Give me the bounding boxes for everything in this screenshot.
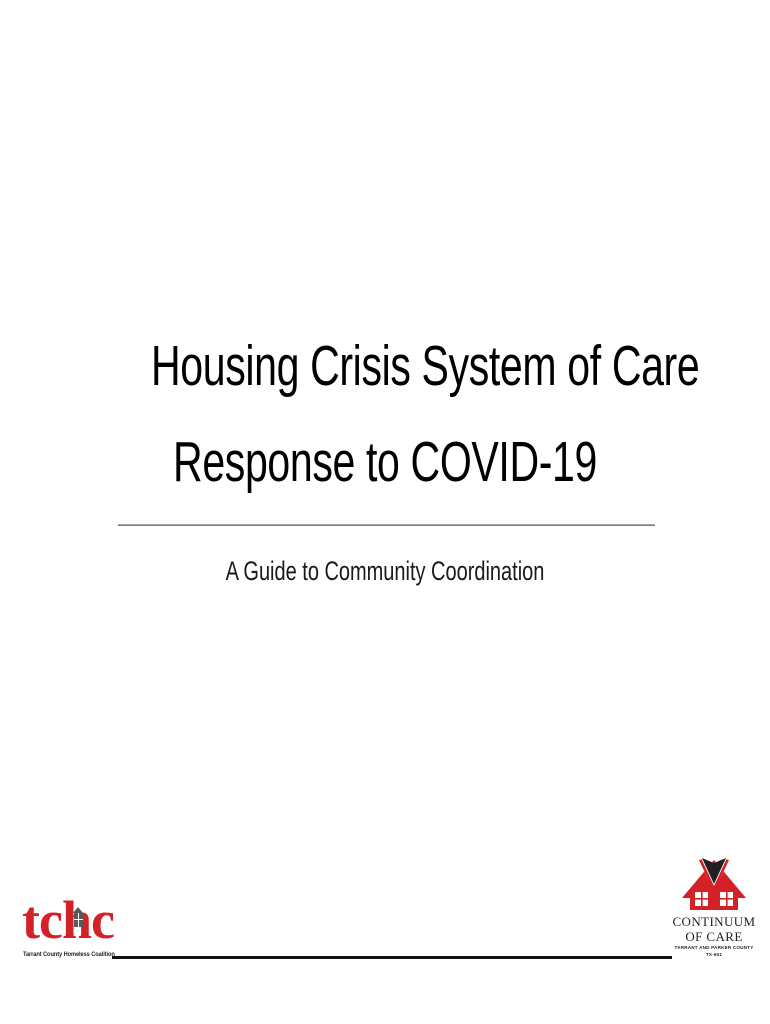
- subtitle-text: A Guide to Community Coordination: [145, 552, 626, 590]
- house-icon: [73, 907, 84, 927]
- title-divider: [118, 524, 655, 526]
- title-line-1: Housing Crisis System of Care: [151, 318, 619, 414]
- coc-sub-line-1: TARRANT AND PARKER COUNTY: [668, 945, 760, 951]
- tchc-logo: tchc Tarrant County Homeless Coalition: [22, 893, 132, 973]
- title-line-2: Response to COVID-19: [151, 414, 619, 510]
- house-roof-icon: [668, 858, 760, 914]
- page-subtitle: A Guide to Community Coordination: [60, 552, 710, 590]
- coc-sub-line-2: TX-601: [668, 952, 760, 958]
- tchc-tagline: Tarrant County Homeless Coalition: [23, 951, 115, 959]
- coc-name-line-2: OF CARE: [668, 929, 760, 944]
- page-title: Housing Crisis System of Care Response t…: [60, 318, 710, 510]
- title-slide: Housing Crisis System of Care Response t…: [0, 0, 770, 1024]
- coc-name-line-1: CONTINUUM: [668, 914, 760, 929]
- footer-divider: [112, 956, 672, 959]
- house-window-pane-horizontal: [74, 919, 83, 920]
- house-window-pane-vertical: [78, 913, 79, 927]
- continuum-of-care-logo: CONTINUUM OF CARE TARRANT AND PARKER COU…: [668, 858, 760, 970]
